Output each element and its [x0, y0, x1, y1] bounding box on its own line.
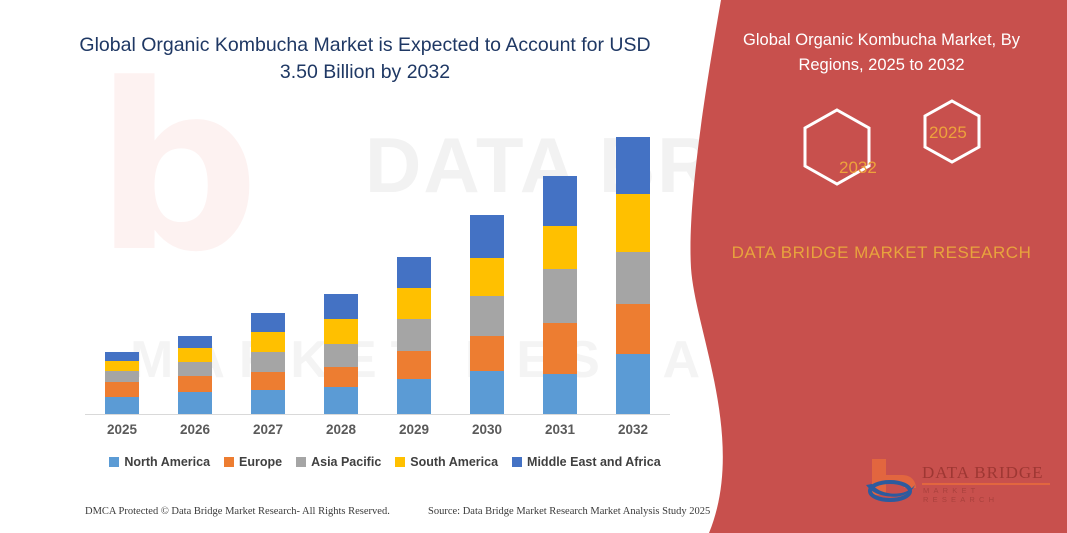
hexagon-label-left: 2032 [839, 158, 877, 178]
x-axis-label-2025: 2025 [87, 422, 157, 437]
bar-segment [397, 319, 431, 351]
bar-segment [470, 215, 504, 258]
chart-panel: Global Organic Kombucha Market is Expect… [0, 0, 720, 533]
chart-title: Global Organic Kombucha Market is Expect… [60, 32, 670, 86]
legend-label: South America [410, 455, 498, 469]
bar-segment [616, 354, 650, 414]
bar-segment [178, 362, 212, 376]
hexagon-label-right: 2025 [929, 123, 967, 143]
bar-segment [470, 296, 504, 336]
bar-segment [105, 382, 139, 397]
chart-plot-area [85, 110, 670, 415]
bar-2029 [397, 257, 431, 414]
bar-segment [251, 332, 285, 352]
legend-label: Asia Pacific [311, 455, 381, 469]
chart-legend: North AmericaEuropeAsia PacificSouth Ame… [85, 455, 685, 469]
x-axis-label-2030: 2030 [452, 422, 522, 437]
bar-segment [543, 176, 577, 226]
bar-segment [543, 374, 577, 414]
x-axis-label-2032: 2032 [598, 422, 668, 437]
brand-name: DATA BRIDGE MARKET RESEARCH [709, 238, 1054, 267]
x-axis-label-2026: 2026 [160, 422, 230, 437]
bar-2025 [105, 352, 139, 414]
logo-subtitle: MARKET RESEARCH [923, 486, 1057, 504]
x-axis-label-2028: 2028 [306, 422, 376, 437]
legend-label: Europe [239, 455, 282, 469]
bar-segment [324, 387, 358, 414]
legend-item[interactable]: Middle East and Africa [512, 455, 661, 469]
bar-segment [105, 371, 139, 382]
bar-segment [397, 351, 431, 379]
bar-2028 [324, 294, 358, 414]
legend-item[interactable]: South America [395, 455, 498, 469]
bar-segment [178, 376, 212, 392]
bar-segment [324, 294, 358, 319]
hexagon-group: 2032 2025 [797, 98, 997, 198]
bar-segment [543, 323, 577, 374]
bar-2030 [470, 215, 504, 414]
legend-swatch-icon [512, 457, 522, 467]
bar-segment [470, 258, 504, 296]
bar-segment [324, 367, 358, 387]
bar-segment [251, 390, 285, 414]
footer-source-text: Source: Data Bridge Market Research Mark… [428, 506, 710, 517]
bar-segment [616, 137, 650, 194]
bar-segment [397, 257, 431, 288]
legend-item[interactable]: North America [109, 455, 210, 469]
bar-segment [616, 304, 650, 354]
logo-divider [922, 483, 1050, 485]
footer-dmca-text: DMCA Protected © Data Bridge Market Rese… [85, 506, 390, 517]
legend-item[interactable]: Asia Pacific [296, 455, 381, 469]
bar-segment [251, 313, 285, 332]
x-axis-line [85, 414, 670, 415]
hexagon-outlines-icon [797, 98, 997, 198]
bar-segment [324, 344, 358, 367]
bar-segment [470, 336, 504, 371]
bar-segment [178, 348, 212, 362]
bar-segment [251, 352, 285, 372]
legend-swatch-icon [224, 457, 234, 467]
bar-segment [105, 361, 139, 371]
legend-label: Middle East and Africa [527, 455, 661, 469]
infographic-page: b DATA BRIDGE MARKET RESEARCH Global Org… [0, 0, 1067, 533]
bar-segment [616, 252, 650, 304]
bar-segment [397, 288, 431, 319]
x-axis-label-2029: 2029 [379, 422, 449, 437]
brand-panel: Global Organic Kombucha Market, By Regio… [687, 0, 1067, 533]
x-axis-label-2031: 2031 [525, 422, 595, 437]
bar-segment [105, 397, 139, 414]
legend-swatch-icon [296, 457, 306, 467]
data-bridge-logo: DATA BRIDGE MARKET RESEARCH [862, 455, 1057, 510]
x-axis-label-2027: 2027 [233, 422, 303, 437]
brand-panel-title: Global Organic Kombucha Market, By Regio… [709, 28, 1054, 78]
legend-swatch-icon [109, 457, 119, 467]
bar-segment [105, 352, 139, 361]
bar-segment [251, 372, 285, 390]
legend-swatch-icon [395, 457, 405, 467]
legend-label: North America [124, 455, 210, 469]
bar-segment [178, 336, 212, 348]
bar-2027 [251, 313, 285, 414]
bar-segment [616, 194, 650, 252]
bar-segment [543, 269, 577, 323]
bar-segment [324, 319, 358, 344]
bar-segment [470, 371, 504, 414]
bar-segment [543, 226, 577, 269]
legend-item[interactable]: Europe [224, 455, 282, 469]
bar-segment [397, 379, 431, 414]
bar-2032 [616, 137, 650, 414]
bar-segment [178, 392, 212, 414]
logo-title: DATA BRIDGE [922, 463, 1044, 483]
bar-2026 [178, 336, 212, 414]
bar-2031 [543, 176, 577, 414]
x-axis-labels: 20252026202720282029203020312032 [85, 422, 670, 446]
logo-mark-icon [862, 455, 920, 505]
